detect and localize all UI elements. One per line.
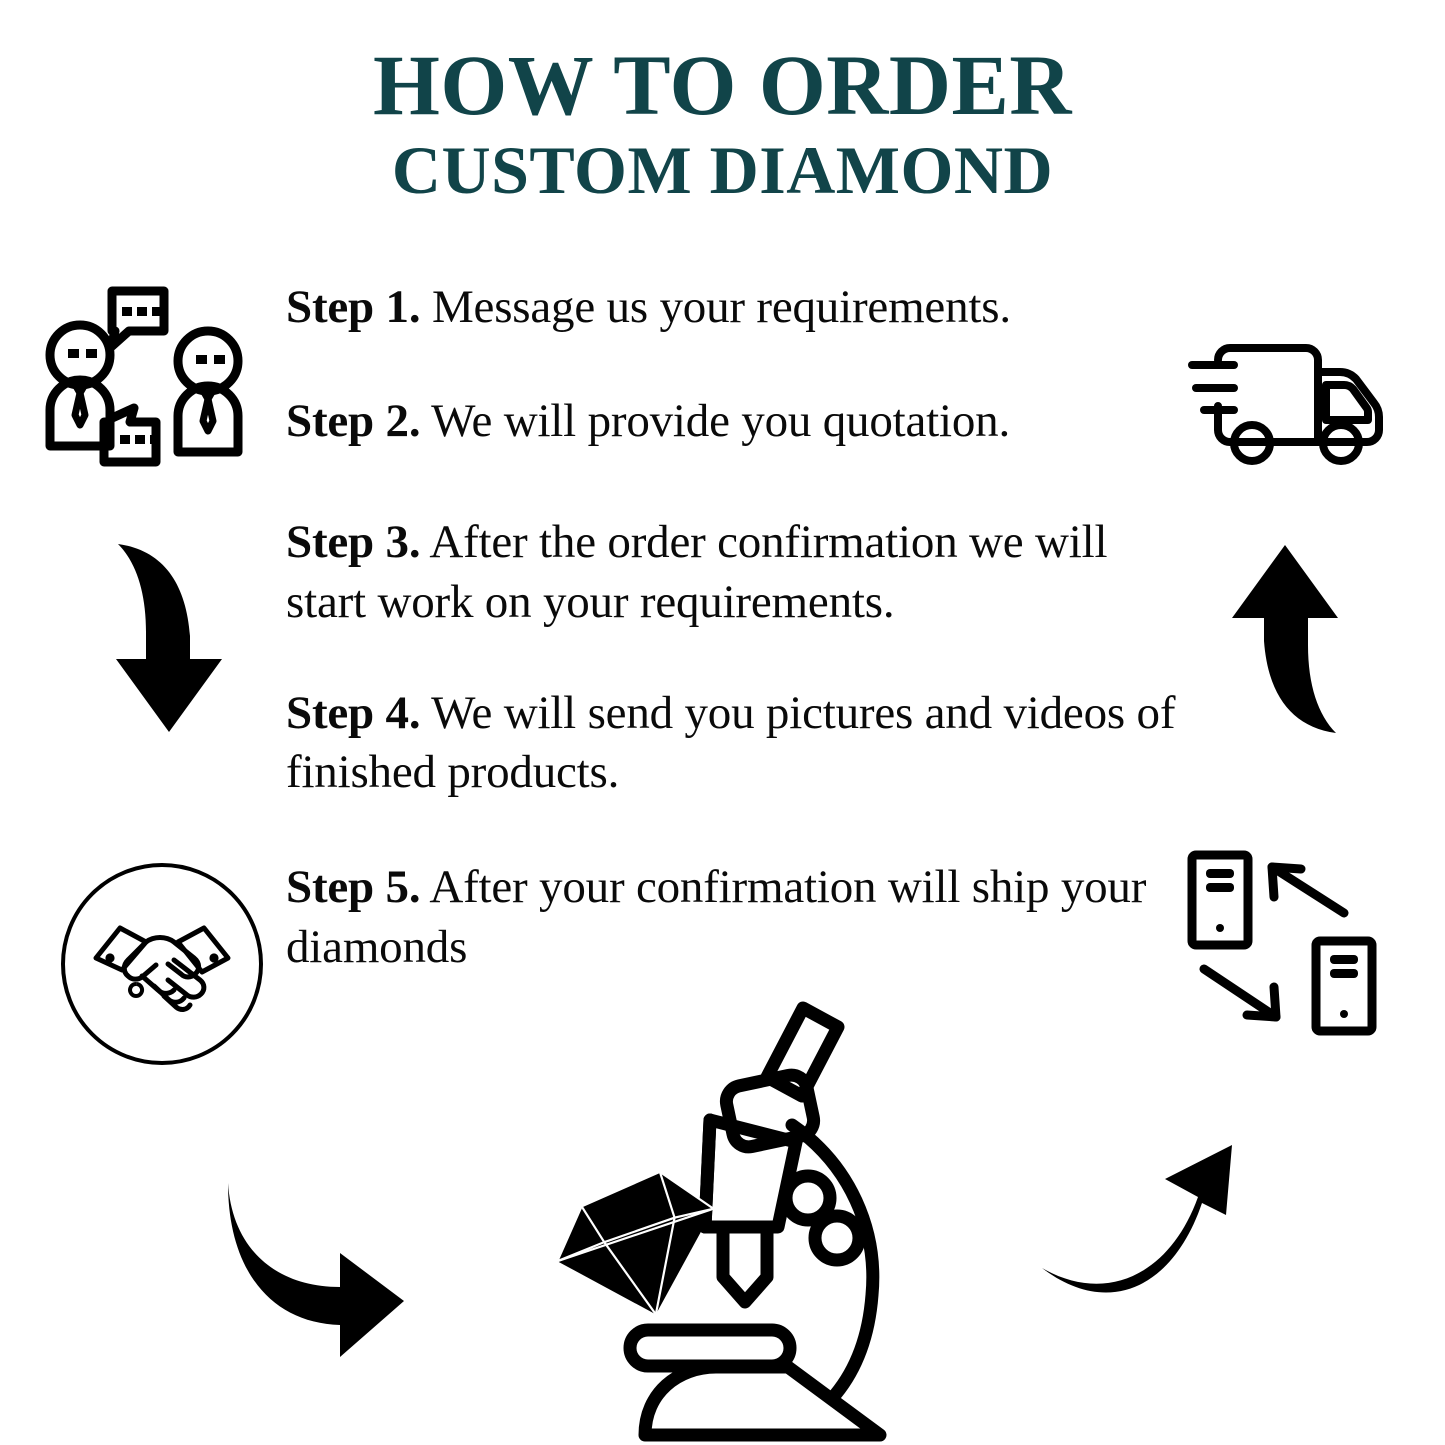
curved-arrow-down-icon — [100, 536, 240, 741]
step-item-5: Step 5. After your confirmation will shi… — [286, 858, 1186, 976]
step-4-text: We will send you pictures and videos of … — [286, 687, 1175, 798]
step-3-label: Step 3. — [286, 516, 420, 568]
step-5-label: Step 5. — [286, 861, 420, 913]
step-2-label: Step 2. — [286, 395, 420, 447]
infographic-canvas: HOW TO ORDER CUSTOM DIAMOND Step 1. Mess… — [0, 0, 1445, 1445]
curved-arrow-up-right-icon — [1020, 1135, 1245, 1335]
diamond-icon — [520, 995, 940, 1445]
two-people-chat-icon — [38, 283, 250, 473]
steps-list: Step 1. Message us your requirements. St… — [286, 278, 1186, 977]
step-4-label: Step 4. — [286, 687, 420, 739]
step-1-label: Step 1. — [286, 281, 420, 333]
delivery-truck-icon — [1176, 330, 1396, 482]
title-line-1: HOW TO ORDER — [0, 42, 1445, 128]
step-item-2: Step 2. We will provide you quotation. — [286, 392, 1186, 451]
step-item-1: Step 1. Message us your requirements. — [286, 278, 1186, 337]
curved-arrow-up-icon — [1214, 536, 1354, 741]
title-line-2: CUSTOM DIAMOND — [0, 136, 1445, 204]
step-2-text: We will provide you quotation. — [420, 395, 1010, 447]
step-1-text: Message us your requirements. — [420, 281, 1011, 333]
page-title: HOW TO ORDER CUSTOM DIAMOND — [0, 42, 1445, 204]
handshake-circle-icon — [58, 860, 266, 1068]
microscope-icon — [520, 995, 940, 1445]
two-phones-exchange-icon — [1168, 845, 1398, 1050]
step-item-3: Step 3. After the order confirmation we … — [286, 513, 1186, 631]
curved-arrow-right-icon — [198, 1175, 428, 1365]
step-item-4: Step 4. We will send you pictures and vi… — [286, 684, 1186, 802]
